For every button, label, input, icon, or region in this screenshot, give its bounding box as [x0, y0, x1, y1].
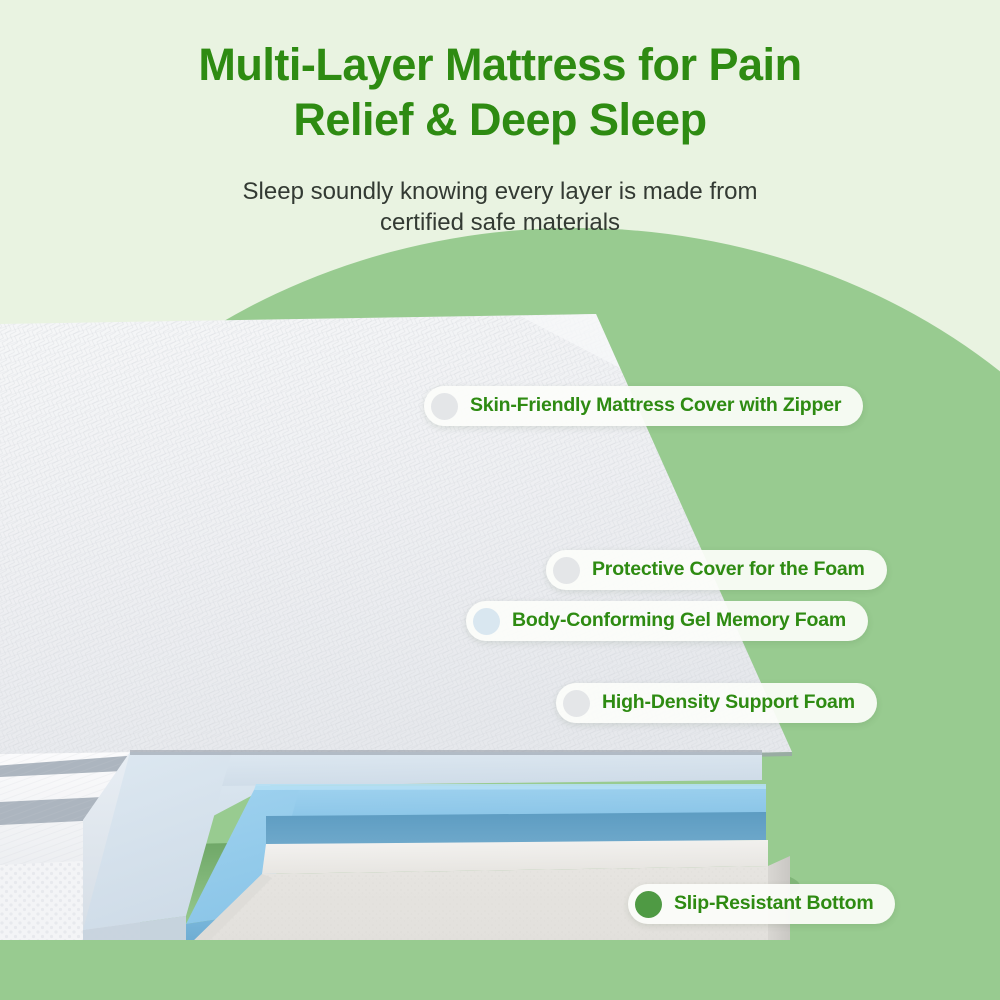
grey-dot-icon [563, 690, 590, 717]
green-dot-icon [635, 891, 662, 918]
callout-gel-memory-foam[interactable]: Body-Conforming Gel Memory Foam [466, 601, 868, 641]
callout-label: High-Density Support Foam [602, 693, 855, 713]
callout-protective-cover[interactable]: Protective Cover for the Foam [546, 550, 887, 590]
headline-line-2: Relief & Deep Sleep [0, 93, 1000, 148]
page-subtitle: Sleep soundly knowing every layer is mad… [0, 176, 1000, 238]
subline-line-2: certified safe materials [0, 207, 1000, 238]
grey-dot-icon [473, 608, 500, 635]
subline-line-1: Sleep soundly knowing every layer is mad… [0, 176, 1000, 207]
callout-label: Protective Cover for the Foam [592, 560, 865, 580]
callout-label: Body-Conforming Gel Memory Foam [512, 611, 846, 631]
headline-line-1: Multi-Layer Mattress for Pain [0, 38, 1000, 93]
callout-label: Slip-Resistant Bottom [674, 894, 873, 914]
grey-dot-icon [553, 557, 580, 584]
page-title: Multi-Layer Mattress for Pain Relief & D… [0, 38, 1000, 148]
grey-dot-icon [431, 393, 458, 420]
callout-skin-friendly-cover[interactable]: Skin-Friendly Mattress Cover with Zipper [424, 386, 863, 426]
callout-high-density-support-foam[interactable]: High-Density Support Foam [556, 683, 877, 723]
callout-label: Skin-Friendly Mattress Cover with Zipper [470, 396, 841, 416]
infographic-canvas: Multi-Layer Mattress for Pain Relief & D… [0, 0, 1000, 1000]
callout-slip-resistant-bottom[interactable]: Slip-Resistant Bottom [628, 884, 895, 924]
